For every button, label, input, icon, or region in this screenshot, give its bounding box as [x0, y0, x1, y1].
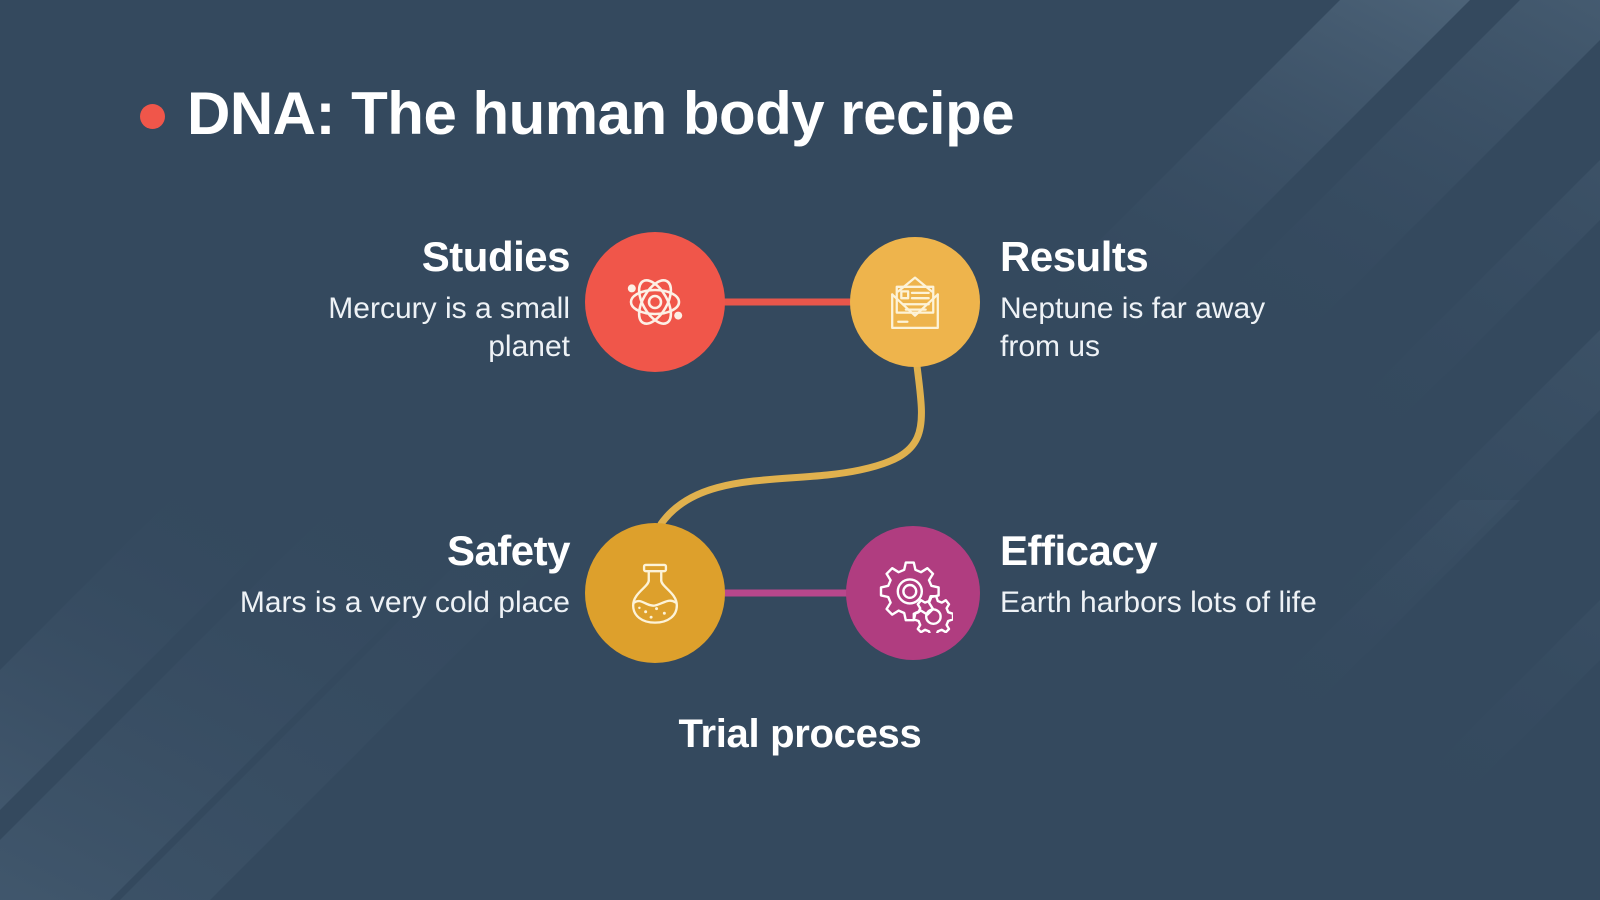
- flask-icon: [616, 554, 694, 632]
- node-text-efficacy: Efficacy Earth harbors lots of life: [1000, 530, 1330, 622]
- node-heading-results: Results: [1000, 236, 1330, 278]
- node-heading-studies: Studies: [260, 236, 570, 278]
- page-title: DNA: The human body recipe: [140, 82, 1014, 145]
- node-circle-studies[interactable]: [585, 232, 725, 372]
- atom-icon: [615, 262, 695, 342]
- node-description-results: Neptune is far away from us: [1000, 290, 1330, 367]
- title-text: DNA: The human body recipe: [187, 82, 1014, 145]
- connector-results-to-safety: [661, 366, 921, 524]
- node-text-safety: Safety Mars is a very cold place: [230, 530, 570, 622]
- node-heading-efficacy: Efficacy: [1000, 530, 1330, 572]
- diagram-caption: Trial process: [0, 712, 1600, 757]
- node-heading-safety: Safety: [230, 530, 570, 572]
- node-circle-safety[interactable]: [585, 523, 725, 663]
- title-bullet-icon: [140, 104, 165, 129]
- gears-icon: [873, 553, 953, 633]
- node-circle-results[interactable]: [850, 237, 980, 367]
- node-description-safety: Mars is a very cold place: [230, 584, 570, 622]
- node-text-studies: Studies Mercury is a small planet: [260, 236, 570, 367]
- node-description-efficacy: Earth harbors lots of life: [1000, 584, 1330, 622]
- envelope-icon: [877, 264, 953, 340]
- node-circle-efficacy[interactable]: [846, 526, 980, 660]
- node-text-results: Results Neptune is far away from us: [1000, 236, 1330, 367]
- slide-canvas: DNA: The human body recipe Studies Mercu…: [0, 0, 1600, 900]
- node-description-studies: Mercury is a small planet: [260, 290, 570, 367]
